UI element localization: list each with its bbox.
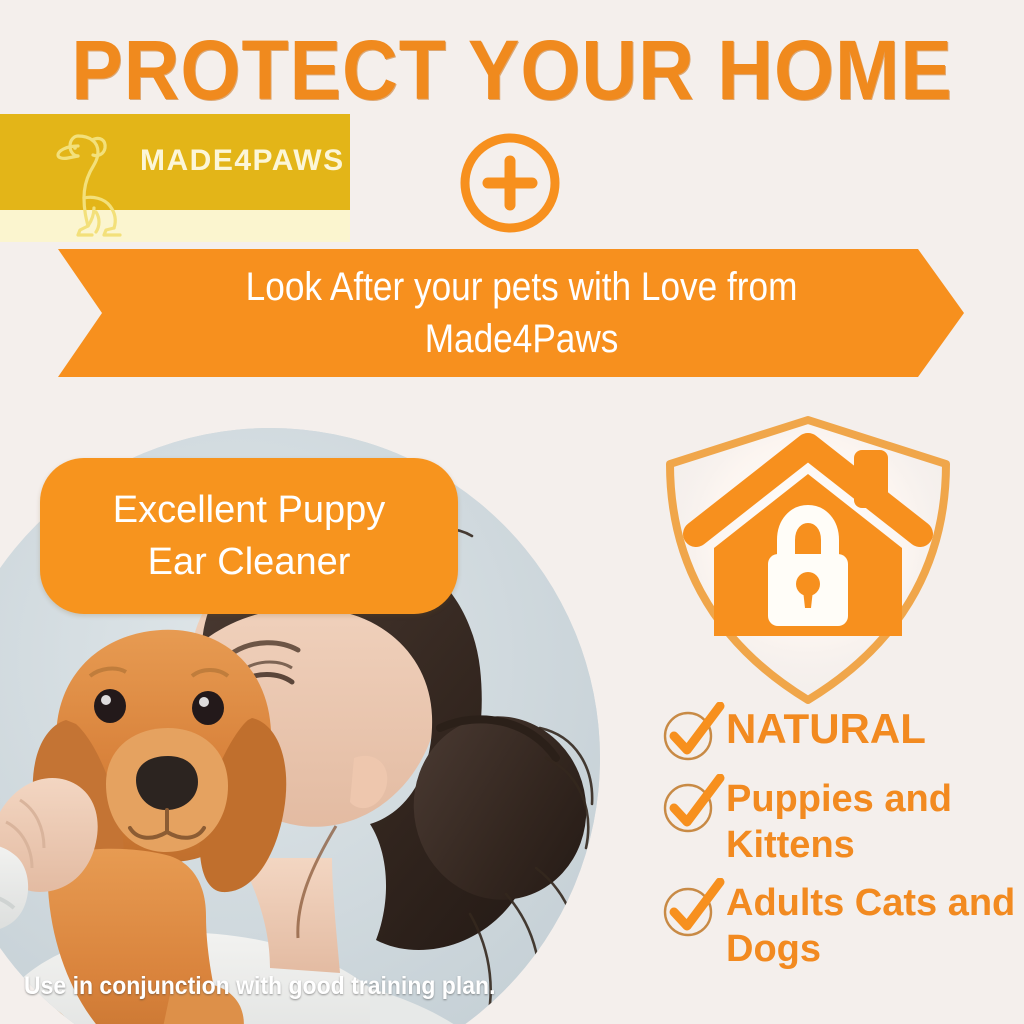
tagline-ribbon: Look After your pets with Love from Made… — [58, 249, 964, 377]
ribbon-line-2: Made4Paws — [246, 313, 798, 365]
photo-caption: Use in conjunction with good training pl… — [24, 972, 495, 1001]
poster-canvas: PROTECT YOUR HOME MADE4PAWS — [0, 0, 1024, 1024]
feature-checklist: NATURAL Puppies and Kittens Adults Cats … — [660, 700, 1024, 980]
list-item: Puppies and Kittens — [660, 772, 1024, 868]
check-circle-icon — [660, 878, 726, 940]
check-circle-icon — [660, 774, 726, 836]
check-circle-icon — [660, 702, 726, 764]
list-item: NATURAL — [660, 700, 1024, 764]
product-badge[interactable]: Excellent Puppy Ear Cleaner — [40, 458, 458, 614]
list-item-label: Puppies and Kittens — [726, 772, 1024, 868]
list-item-label: NATURAL — [726, 700, 926, 754]
list-item-label: Adults Cats and Dogs — [726, 876, 1024, 972]
product-badge-line-1: Excellent Puppy — [113, 484, 386, 536]
ribbon-line-1: Look After your pets with Love from — [246, 261, 798, 313]
brand-logo: MADE4PAWS — [0, 114, 350, 242]
product-badge-line-2: Ear Cleaner — [113, 536, 386, 588]
product-badge-text: Excellent Puppy Ear Cleaner — [113, 484, 386, 588]
page-title: PROTECT YOUR HOME — [41, 28, 983, 112]
circle-plus-icon — [455, 128, 565, 238]
logo-brand-text: MADE4PAWS — [140, 144, 345, 178]
sitting-dog-icon — [48, 122, 148, 240]
list-item: Adults Cats and Dogs — [660, 876, 1024, 972]
shield-house-lock-icon — [648, 412, 968, 708]
ribbon-text: Look After your pets with Love from Made… — [112, 249, 909, 377]
